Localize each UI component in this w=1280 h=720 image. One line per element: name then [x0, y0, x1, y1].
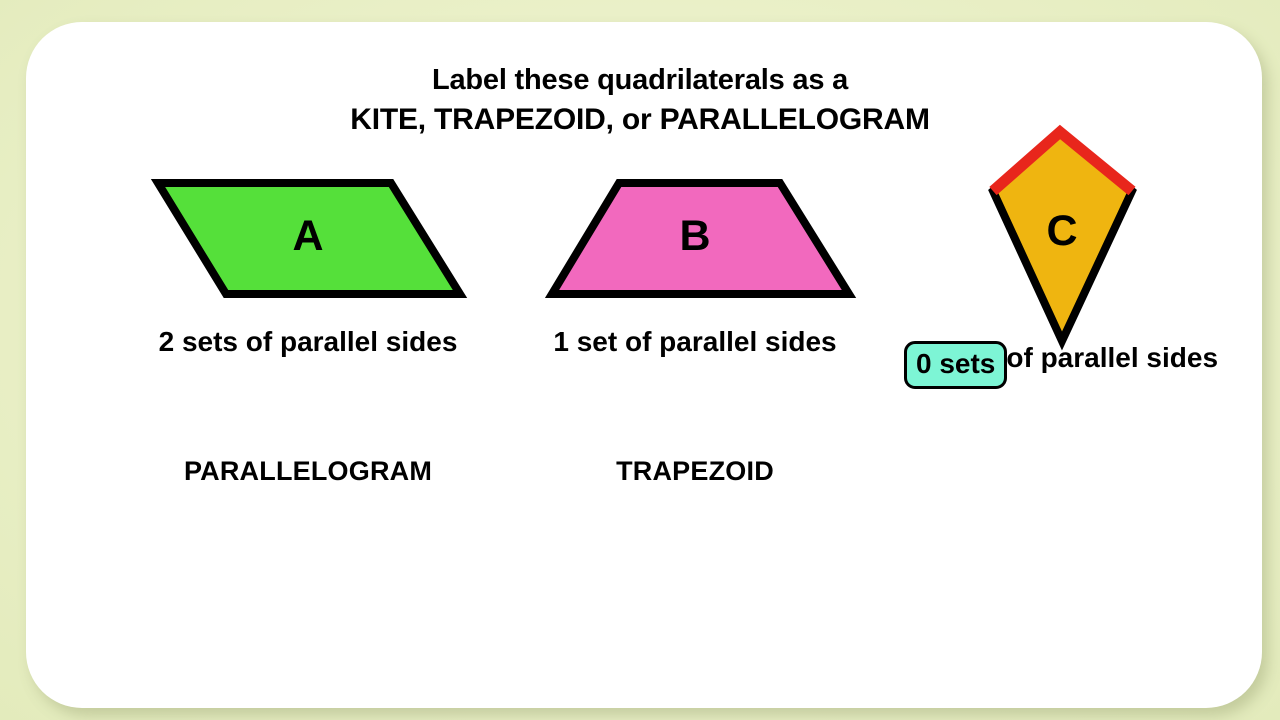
shape-description-c: 0 setsof parallel sides — [896, 336, 1226, 389]
shape-answer-a: PARALLELOGRAM — [138, 456, 478, 487]
shape-description-b: 1 set of parallel sides — [525, 320, 865, 364]
shape-label-b: B — [665, 212, 725, 261]
shape-label-a: A — [278, 212, 338, 261]
zero-sets-highlight-chip: 0 sets — [904, 341, 1007, 389]
shape-description-a: 2 sets of parallel sides — [138, 320, 478, 364]
title-line-1: Label these quadrilaterals as a — [0, 60, 1280, 100]
shape-description-c-rest: of parallel sides — [1006, 342, 1218, 373]
shape-label-c: C — [1032, 207, 1092, 256]
shape-answer-b: TRAPEZOID — [525, 456, 865, 487]
slide-root: Label these quadrilaterals as a KITE, TR… — [0, 0, 1280, 720]
